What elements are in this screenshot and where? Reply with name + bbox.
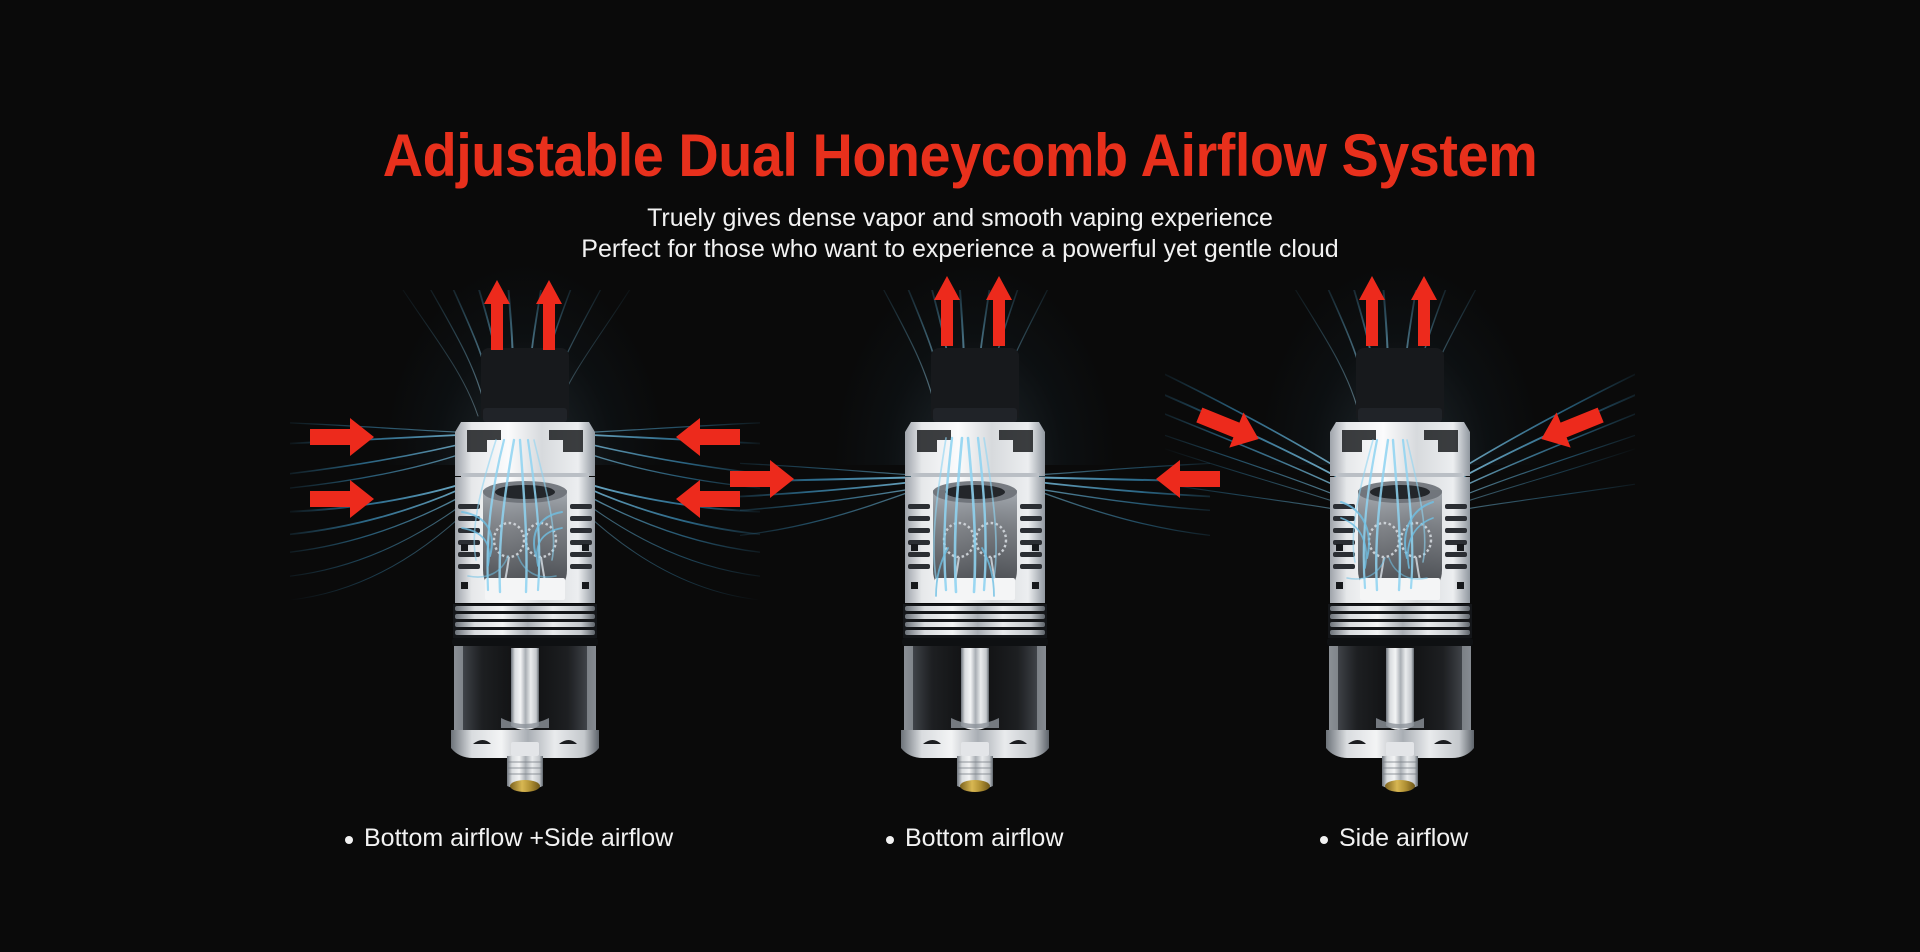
arrow-side-right-upper xyxy=(676,418,740,456)
arrow-up-left xyxy=(1359,276,1385,346)
bullet-dot xyxy=(345,836,353,844)
arrow-side-left-upper xyxy=(310,418,374,456)
arrow-up-left xyxy=(484,280,510,350)
arrow-up-right xyxy=(1411,276,1437,346)
subtitle-block: Truely gives dense vapor and smooth vapi… xyxy=(0,203,1920,265)
caption-label: Bottom airflow xyxy=(905,824,1063,853)
device-illustration-bottom-and-side xyxy=(290,290,760,810)
subtitle-line-2: Perfect for those who want to experience… xyxy=(0,234,1920,265)
arrow-side-left-upper xyxy=(1192,397,1266,456)
caption-label: Bottom airflow +Side airflow xyxy=(364,824,673,853)
page-title: Adjustable Dual Honeycomb Airflow System xyxy=(67,124,1853,187)
arrow-side-left-lower xyxy=(310,480,374,518)
vape-tank-cutaway xyxy=(875,290,1075,810)
arrow-side-right-upper xyxy=(1534,397,1608,456)
vape-tank-cutaway xyxy=(425,290,625,810)
caption-label: Side airflow xyxy=(1339,824,1468,853)
subtitle-line-1: Truely gives dense vapor and smooth vapi… xyxy=(0,203,1920,234)
caption-side: Side airflow xyxy=(1320,824,1468,853)
bullet-dot xyxy=(886,836,894,844)
bullet-dot xyxy=(1320,836,1328,844)
arrow-up-left xyxy=(934,276,960,346)
device-illustration-side xyxy=(1165,290,1635,810)
caption-bottom-and-side: Bottom airflow +Side airflow xyxy=(345,824,673,853)
arrow-up-right xyxy=(986,276,1012,346)
arrow-side-right-lower xyxy=(1156,460,1220,498)
caption-bottom: Bottom airflow xyxy=(886,824,1063,853)
product-feature-banner: Adjustable Dual Honeycomb Airflow System… xyxy=(0,0,1920,952)
vape-tank-cutaway xyxy=(1300,290,1500,810)
device-illustration-bottom xyxy=(740,290,1210,810)
arrow-side-left-lower xyxy=(730,460,794,498)
arrow-up-right xyxy=(536,280,562,350)
